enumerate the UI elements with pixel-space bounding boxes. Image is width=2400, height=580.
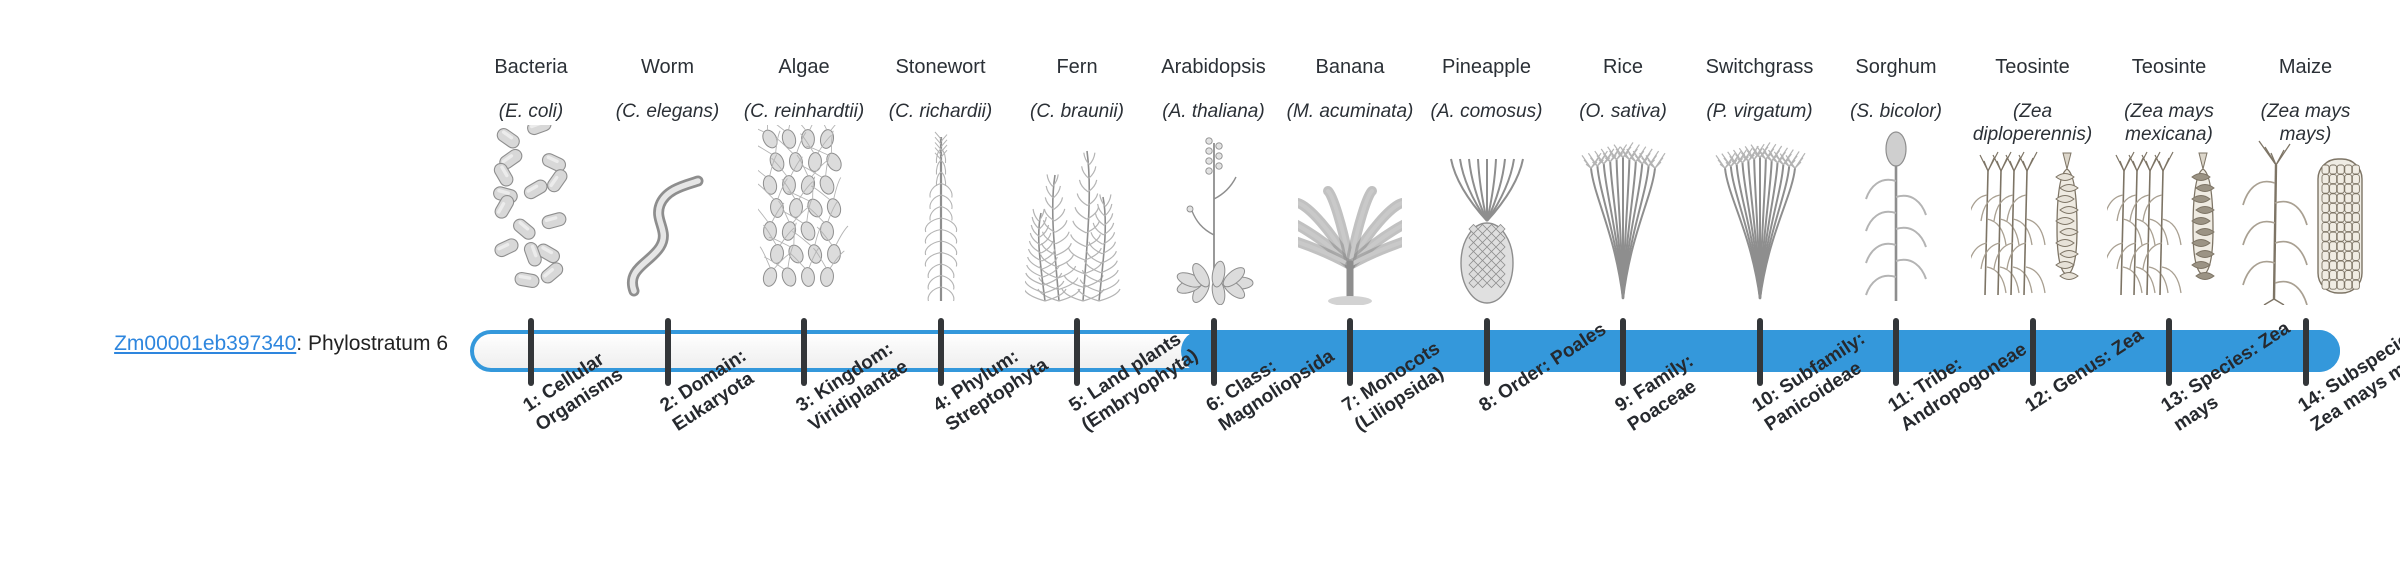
algae-icon	[736, 165, 873, 305]
pineapple-icon	[1418, 165, 1555, 305]
phylostratum-value: Phylostratum 6	[308, 332, 448, 355]
species-common-name: Fern	[1009, 55, 1146, 79]
species-common-name: Pineapple	[1418, 55, 1555, 79]
gene-id-link[interactable]: Zm00001eb397340	[114, 332, 296, 355]
species-common-name: Teosinte	[2101, 55, 2238, 79]
phylostratum-number: 12:	[2021, 384, 2055, 417]
phylostratum-tick-13[interactable]	[2166, 318, 2172, 386]
species-common-name: Arabidopsis	[1145, 55, 1282, 79]
species-scientific-name: (C. elegans)	[599, 100, 736, 123]
species-scientific-name: (S. bicolor)	[1828, 100, 1965, 123]
phylostratum-number: 8:	[1475, 390, 1501, 417]
bacteria-icon	[463, 165, 600, 305]
phylostratum-tick-9[interactable]	[1620, 318, 1626, 386]
fern-icon	[1009, 165, 1146, 305]
species-scientific-name: (A. comosus)	[1418, 100, 1555, 123]
species-common-name: Bacteria	[463, 55, 600, 79]
worm-icon	[599, 165, 736, 305]
arabidopsis-icon	[1145, 165, 1282, 305]
species-scientific-name: (P. virgatum)	[1691, 100, 1828, 123]
species-common-name: Rice	[1555, 55, 1692, 79]
gene-label-separator: :	[296, 332, 308, 355]
teosinte-diplo-icon	[1964, 165, 2101, 305]
species-scientific-name: (M. acuminata)	[1282, 100, 1419, 123]
stonewort-icon	[872, 165, 1009, 305]
species-scientific-name: (A. thaliana)	[1145, 100, 1282, 123]
phylostratum-tick-1[interactable]	[528, 318, 534, 386]
species-common-name: Switchgrass	[1691, 55, 1828, 79]
switchgrass-icon	[1691, 165, 1828, 305]
species-common-name: Banana	[1282, 55, 1419, 79]
phylostratum-timeline: Zm00001eb397340: Phylostratum 6 Bacteria…	[0, 0, 2400, 580]
teosinte-mex-icon	[2101, 165, 2238, 305]
species-common-name: Algae	[736, 55, 873, 79]
species-scientific-name: (O. sativa)	[1555, 100, 1692, 123]
species-common-name: Maize	[2237, 55, 2374, 79]
species-common-name: Worm	[599, 55, 736, 79]
species-scientific-name: (C. richardii)	[872, 100, 1009, 123]
sorghum-icon	[1828, 165, 1965, 305]
species-common-name: Sorghum	[1828, 55, 1965, 79]
species-common-name: Stonewort	[872, 55, 1009, 79]
species-scientific-name: (C. braunii)	[1009, 100, 1146, 123]
gene-phylostratum-label: Zm00001eb397340: Phylostratum 6	[0, 332, 448, 356]
species-scientific-name: (E. coli)	[463, 100, 600, 123]
species-common-name: Teosinte	[1964, 55, 2101, 79]
species-scientific-name: (C. reinhardtii)	[736, 100, 873, 123]
rice-icon	[1555, 165, 1692, 305]
maize-icon	[2237, 165, 2374, 305]
banana-icon	[1282, 165, 1419, 305]
